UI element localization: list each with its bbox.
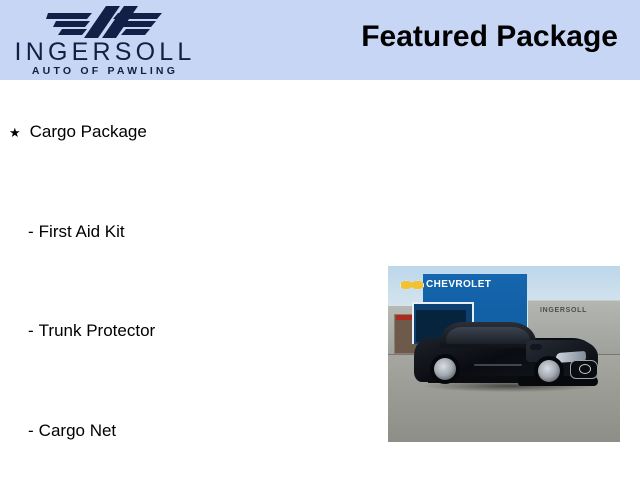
winged-emblem-icon xyxy=(46,5,164,39)
star-bullet-icon: ★ xyxy=(9,126,21,139)
vehicle-photo: INGERSOLL CHEVROLET xyxy=(388,266,620,442)
dash-bullet-icon: - xyxy=(28,222,34,242)
vehicle-glass xyxy=(446,327,530,344)
infiniti-emblem-icon xyxy=(579,364,591,374)
dealer-logo: INGERSOLL AUTO OF PAWLING xyxy=(0,2,210,80)
dash-bullet-icon: - xyxy=(28,421,34,441)
page-title: Featured Package xyxy=(361,20,618,54)
list-item-label: First Aid Kit xyxy=(39,222,125,242)
dealer-sign-secondary: INGERSOLL xyxy=(540,307,587,314)
photo-vehicle xyxy=(414,320,598,398)
photo-red-sign xyxy=(396,315,412,320)
vehicle-side-mirror xyxy=(530,344,542,350)
list-item-label: Trunk Protector xyxy=(39,321,156,341)
list-item: - First Aid Kit xyxy=(28,222,125,242)
list-item-label: Cargo Package xyxy=(30,122,147,142)
vehicle-rear-rim xyxy=(434,358,456,380)
brand-name: INGERSOLL xyxy=(0,40,210,65)
list-item: - Trunk Protector xyxy=(28,321,155,341)
slide-body: ★ Cargo Package - First Aid Kit - Trunk … xyxy=(0,80,640,480)
vehicle-front-wheel xyxy=(534,356,564,386)
vehicle-body-crease xyxy=(474,364,522,366)
vehicle-rear-wheel xyxy=(430,354,460,384)
vehicle-front-rim xyxy=(538,360,560,382)
dash-bullet-icon: - xyxy=(28,321,34,341)
dealer-sign-primary: CHEVROLET xyxy=(426,279,491,290)
list-item: - Cargo Net xyxy=(28,421,116,441)
slide-header-band: INGERSOLL AUTO OF PAWLING Featured Packa… xyxy=(0,0,640,80)
list-item: ★ Cargo Package xyxy=(9,122,147,142)
brand-tagline: AUTO OF PAWLING xyxy=(0,66,210,77)
list-item-label: Cargo Net xyxy=(39,421,116,441)
